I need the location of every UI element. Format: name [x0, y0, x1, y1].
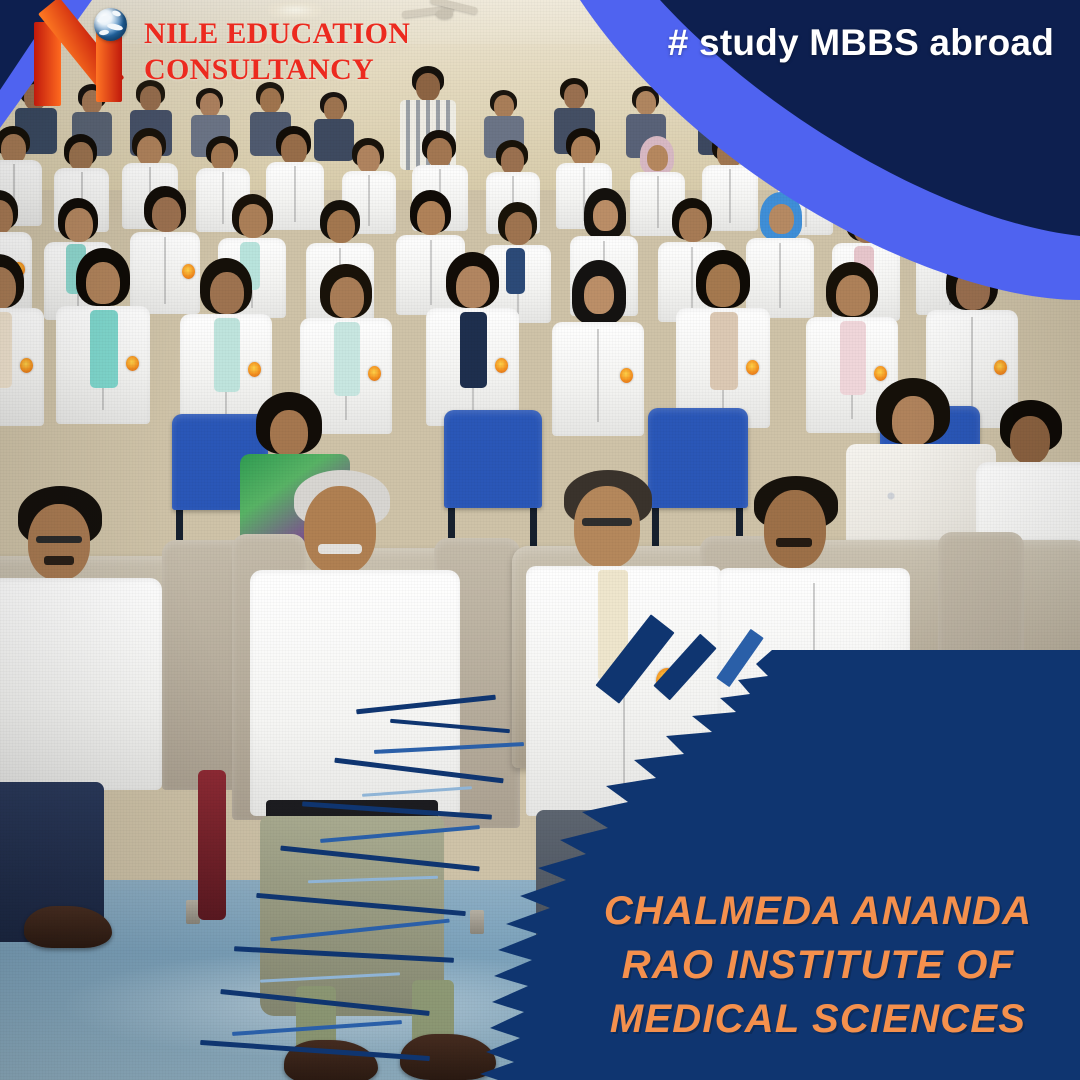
top-right-banner: # study MBBS abroad — [520, 0, 1080, 330]
institute-headline: CHALMEDA ANANDA RAO INSTITUTE OF MEDICAL… — [578, 884, 1058, 1046]
headline-line-3: MEDICAL SCIENCES — [578, 992, 1058, 1046]
maroon-chair-edge — [198, 770, 226, 920]
social-media-poster: # study MBBS abroad NILE EDUCATION CONSU… — [0, 0, 1080, 1080]
nile-n-globe-logo-icon — [26, 8, 134, 106]
brand-name-line1: NILE EDUCATION — [144, 16, 384, 52]
globe-icon — [94, 8, 127, 41]
ceiling-fan-icon — [402, 0, 480, 26]
headline-line-1: CHALMEDA ANANDA — [578, 884, 1058, 938]
brand-name-line2: CONSULTANCY — [144, 52, 384, 88]
hashtag-text: # study MBBS abroad — [668, 22, 1054, 64]
brand-logo[interactable]: NILE EDUCATION CONSULTANCY — [26, 6, 376, 106]
brand-name: NILE EDUCATION CONSULTANCY — [144, 16, 384, 88]
headline-line-2: RAO INSTITUTE OF — [578, 938, 1058, 992]
